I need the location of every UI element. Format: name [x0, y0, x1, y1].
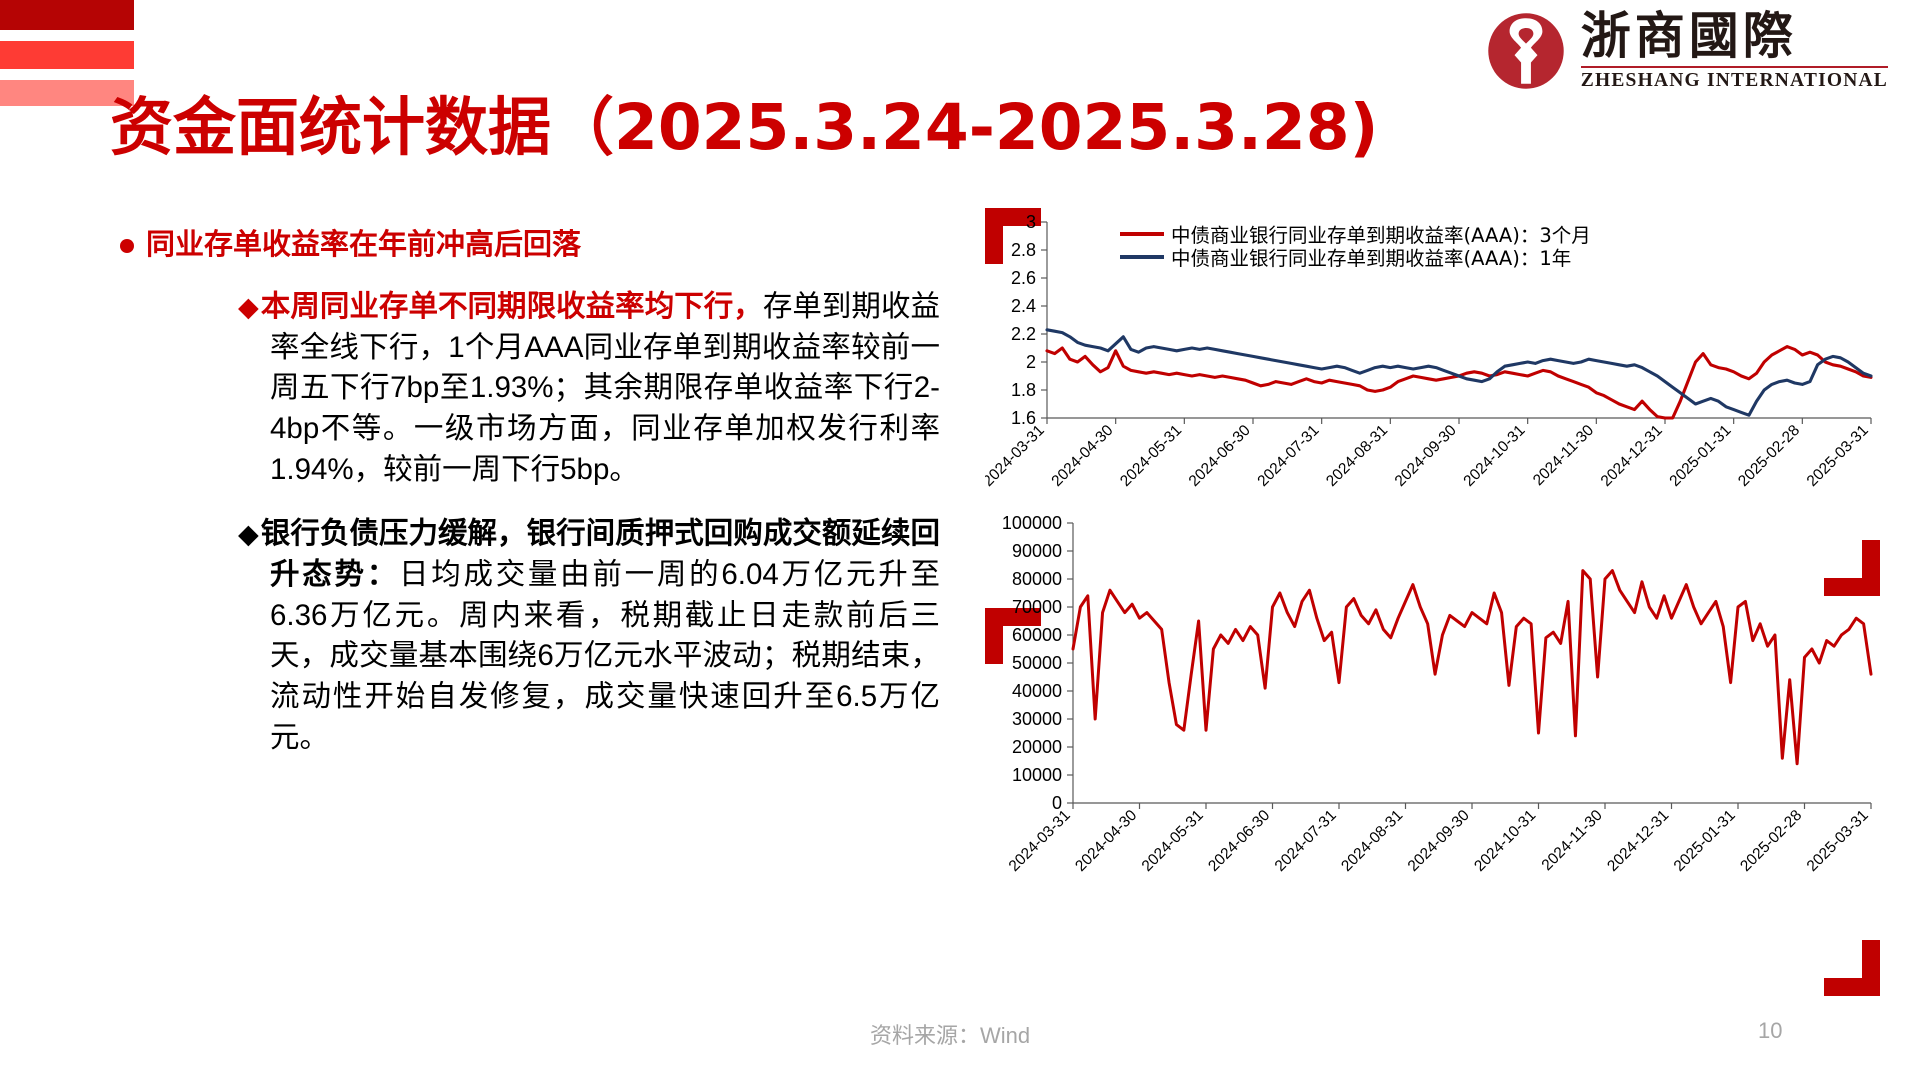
svg-text:10000: 10000: [1012, 765, 1062, 785]
logo-divider: [1581, 66, 1888, 68]
company-logo: 浙商國際 ZHESHANG INTERNATIONAL: [1485, 10, 1888, 92]
diamond-bullet-icon: ◆: [238, 519, 259, 549]
svg-text:2024-11-30: 2024-11-30: [1530, 422, 1598, 490]
svg-text:2024-05-31: 2024-05-31: [1139, 807, 1207, 875]
svg-text:2.2: 2.2: [1011, 324, 1036, 344]
svg-text:1.8: 1.8: [1011, 380, 1036, 400]
svg-text:2024-08-31: 2024-08-31: [1338, 807, 1406, 875]
svg-text:70000: 70000: [1012, 597, 1062, 617]
svg-text:2024-04-30: 2024-04-30: [1072, 807, 1140, 875]
svg-text:2024-10-31: 2024-10-31: [1471, 807, 1539, 875]
svg-text:2024-09-30: 2024-09-30: [1405, 807, 1473, 875]
bullet-1-paragraph: ◆本周同业存单不同期限收益率均下行，存单到期收益率全线下行，1个月AAA同业存单…: [238, 287, 940, 491]
svg-text:90000: 90000: [1012, 541, 1062, 561]
decor-stripe-1: [0, 0, 134, 30]
svg-text:60000: 60000: [1012, 625, 1062, 645]
decor-stripe-2: [0, 41, 134, 69]
svg-text:2.6: 2.6: [1011, 268, 1036, 288]
chart-cd-yield: 1.61.822.22.42.62.832024-03-312024-04-30…: [985, 200, 1885, 530]
chart-cd-yield-legend: 中债商业银行同业存单到期收益率(AAA)：3个月 中债商业银行同业存单到期收益率…: [1120, 222, 1591, 268]
bullet-dot-icon: [120, 239, 134, 253]
section-heading: 同业存单收益率在年前冲高后回落: [120, 228, 940, 263]
svg-text:2024-12-31: 2024-12-31: [1604, 807, 1672, 875]
bullet-1-lead: 本周同业存单不同期限收益率均下行，: [261, 290, 763, 323]
slide-root: 浙商國際 ZHESHANG INTERNATIONAL 资金面统计数据（2025…: [0, 0, 1920, 1080]
svg-text:2024-04-30: 2024-04-30: [1048, 422, 1116, 490]
svg-text:2024-07-31: 2024-07-31: [1272, 807, 1340, 875]
svg-text:2025-01-31: 2025-01-31: [1666, 422, 1734, 490]
corner-bracket-bottom-right: [1824, 940, 1880, 996]
svg-text:2024-06-30: 2024-06-30: [1205, 807, 1273, 875]
chart-repo-volume-svg: 0100002000030000400005000060000700008000…: [985, 505, 1885, 925]
svg-text:30000: 30000: [1012, 709, 1062, 729]
logo-text-block: 浙商國際 ZHESHANG INTERNATIONAL: [1581, 11, 1888, 91]
svg-text:2025-02-28: 2025-02-28: [1737, 807, 1805, 875]
legend-swatch-series-1: [1120, 255, 1164, 259]
svg-text:2.4: 2.4: [1011, 296, 1036, 316]
svg-text:2024-09-30: 2024-09-30: [1392, 422, 1460, 490]
svg-text:2024-12-31: 2024-12-31: [1598, 422, 1666, 490]
legend-swatch-series-0: [1120, 232, 1164, 236]
svg-text:2024-07-31: 2024-07-31: [1254, 422, 1322, 490]
source-note: 资料来源：Wind: [870, 1018, 1030, 1050]
chart-repo-volume: 0100002000030000400005000060000700008000…: [985, 505, 1885, 925]
svg-text:2025-03-31: 2025-03-31: [1804, 807, 1872, 875]
svg-text:2.8: 2.8: [1011, 240, 1036, 260]
content-column: 同业存单收益率在年前冲高后回落 ◆本周同业存单不同期限收益率均下行，存单到期收益…: [120, 228, 940, 759]
svg-text:2025-02-28: 2025-02-28: [1735, 422, 1803, 490]
svg-text:2025-03-31: 2025-03-31: [1804, 422, 1872, 490]
svg-text:2024-08-31: 2024-08-31: [1323, 422, 1391, 490]
logo-chinese-name: 浙商國際: [1581, 11, 1888, 61]
bullet-item-2: ◆银行负债压力缓解，银行间质押式回购成交额延续回升态势：日均成交量由前一周的6.…: [120, 514, 940, 758]
bullet-2-paragraph: ◆银行负债压力缓解，银行间质押式回购成交额延续回升态势：日均成交量由前一周的6.…: [238, 514, 940, 758]
svg-text:2024-11-30: 2024-11-30: [1539, 807, 1607, 875]
svg-text:50000: 50000: [1012, 653, 1062, 673]
bullet-item-1: ◆本周同业存单不同期限收益率均下行，存单到期收益率全线下行，1个月AAA同业存单…: [120, 287, 940, 491]
svg-text:40000: 40000: [1012, 681, 1062, 701]
svg-text:100000: 100000: [1002, 513, 1062, 533]
svg-text:2024-10-31: 2024-10-31: [1460, 422, 1528, 490]
svg-text:2025-01-31: 2025-01-31: [1671, 807, 1739, 875]
logo-english-name: ZHESHANG INTERNATIONAL: [1581, 71, 1888, 91]
svg-text:2: 2: [1026, 352, 1036, 372]
svg-text:80000: 80000: [1012, 569, 1062, 589]
section-heading-label: 同业存单收益率在年前冲高后回落: [146, 228, 581, 263]
zheshang-logo-mark: [1485, 10, 1567, 92]
svg-text:2024-05-31: 2024-05-31: [1117, 422, 1185, 490]
svg-text:20000: 20000: [1012, 737, 1062, 757]
legend-item: 中债商业银行同业存单到期收益率(AAA)：1年: [1120, 245, 1591, 268]
svg-text:2024-03-31: 2024-03-31: [1006, 807, 1074, 875]
svg-text:2024-06-30: 2024-06-30: [1186, 422, 1254, 490]
page-number: 10: [1758, 1018, 1782, 1044]
page-title: 资金面统计数据（2025.3.24-2025.3.28): [110, 96, 1378, 159]
svg-text:3: 3: [1026, 212, 1036, 232]
legend-label-series-1: 中债商业银行同业存单到期收益率(AAA)：1年: [1171, 242, 1571, 271]
diamond-bullet-icon: ◆: [238, 292, 259, 322]
svg-text:2024-03-31: 2024-03-31: [985, 422, 1048, 490]
